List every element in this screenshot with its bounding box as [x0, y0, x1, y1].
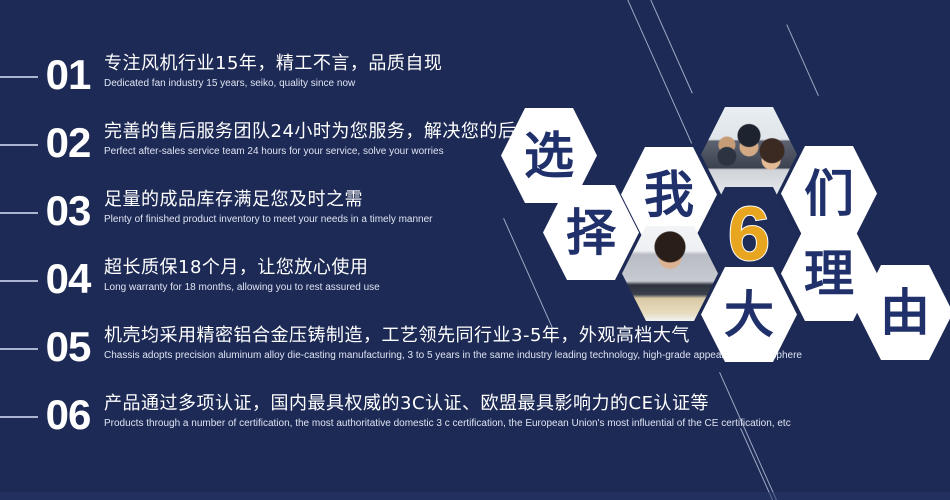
- reason-dash: [0, 416, 38, 418]
- reason-row: 04 超长质保18个月，让您放心使用 Long warranty for 18 …: [0, 254, 380, 300]
- hex-cell-photo-man[interactable]: photo-man: [622, 226, 718, 321]
- reason-title-cn: 产品通过多项认证，国内最具权威的3C认证、欧盟最具影响力的CE认证等: [104, 392, 791, 416]
- reason-dash: [0, 76, 38, 78]
- hex-char-label: 选: [524, 131, 574, 181]
- hex-char-label: 择: [566, 208, 616, 258]
- diagonal-line-2: [645, 0, 693, 93]
- reason-number: 06: [42, 394, 94, 436]
- reason-title-cn: 超长质保18个月，让您放心使用: [104, 256, 380, 280]
- hex-char-label: 理: [804, 249, 854, 299]
- reason-title-en: Products through a number of certificati…: [104, 417, 791, 431]
- reason-title-en: Long warranty for 18 months, allowing yo…: [104, 281, 380, 295]
- reason-title-cn: 机壳均采用精密铝合金压铸制造，工艺领先同行业3-5年，外观高档大气: [104, 324, 802, 348]
- hex-char-label: 大: [724, 290, 774, 340]
- reason-row: 03 足量的成品库存满足您及时之需 Plenty of finished pro…: [0, 186, 433, 232]
- hex-char-label: 们: [804, 169, 854, 219]
- reason-title-cn: 完善的售后服务团队24小时为您服务，解决您的后顾之忧: [104, 120, 572, 144]
- hex-photo-label: photo-man: [670, 273, 671, 274]
- reason-number: 03: [42, 190, 94, 232]
- reason-dash: [0, 212, 38, 214]
- hex-photo-label: photo-team: [749, 154, 750, 155]
- reason-title-en: Chassis adopts precision aluminum alloy …: [104, 349, 802, 363]
- bottom-band: [0, 492, 950, 500]
- hex-char-label: 由: [880, 288, 930, 338]
- reason-row: 01 专注风机行业15年，精工不言，品质自现 Dedicated fan ind…: [0, 50, 442, 96]
- reason-row: 05 机壳均采用精密铝合金压铸制造，工艺领先同行业3-5年，外观高档大气 Cha…: [0, 322, 802, 368]
- reason-number: 04: [42, 258, 94, 300]
- reason-row: 02 完善的售后服务团队24小时为您服务，解决您的后顾之忧 Perfect af…: [0, 118, 572, 164]
- reason-title-en: Dedicated fan industry 15 years, seiko, …: [104, 77, 442, 91]
- hex-char-label: 我: [644, 170, 694, 220]
- banner-canvas: 01 专注风机行业15年，精工不言，品质自现 Dedicated fan ind…: [0, 0, 950, 500]
- diagonal-line-3: [786, 24, 819, 96]
- reason-number: 02: [42, 122, 94, 164]
- reason-number: 01: [42, 54, 94, 96]
- reason-dash: [0, 144, 38, 146]
- reason-row: 06 产品通过多项认证，国内最具权威的3C认证、欧盟最具影响力的CE认证等 Pr…: [0, 390, 791, 436]
- reason-title-cn: 足量的成品库存满足您及时之需: [104, 188, 433, 212]
- reason-dash: [0, 348, 38, 350]
- reason-dash: [0, 280, 38, 282]
- reason-title-en: Plenty of finished product inventory to …: [104, 213, 433, 227]
- hex-digit-label: 6: [728, 197, 770, 273]
- reason-number: 05: [42, 326, 94, 368]
- reason-title-cn: 专注风机行业15年，精工不言，品质自现: [104, 52, 442, 76]
